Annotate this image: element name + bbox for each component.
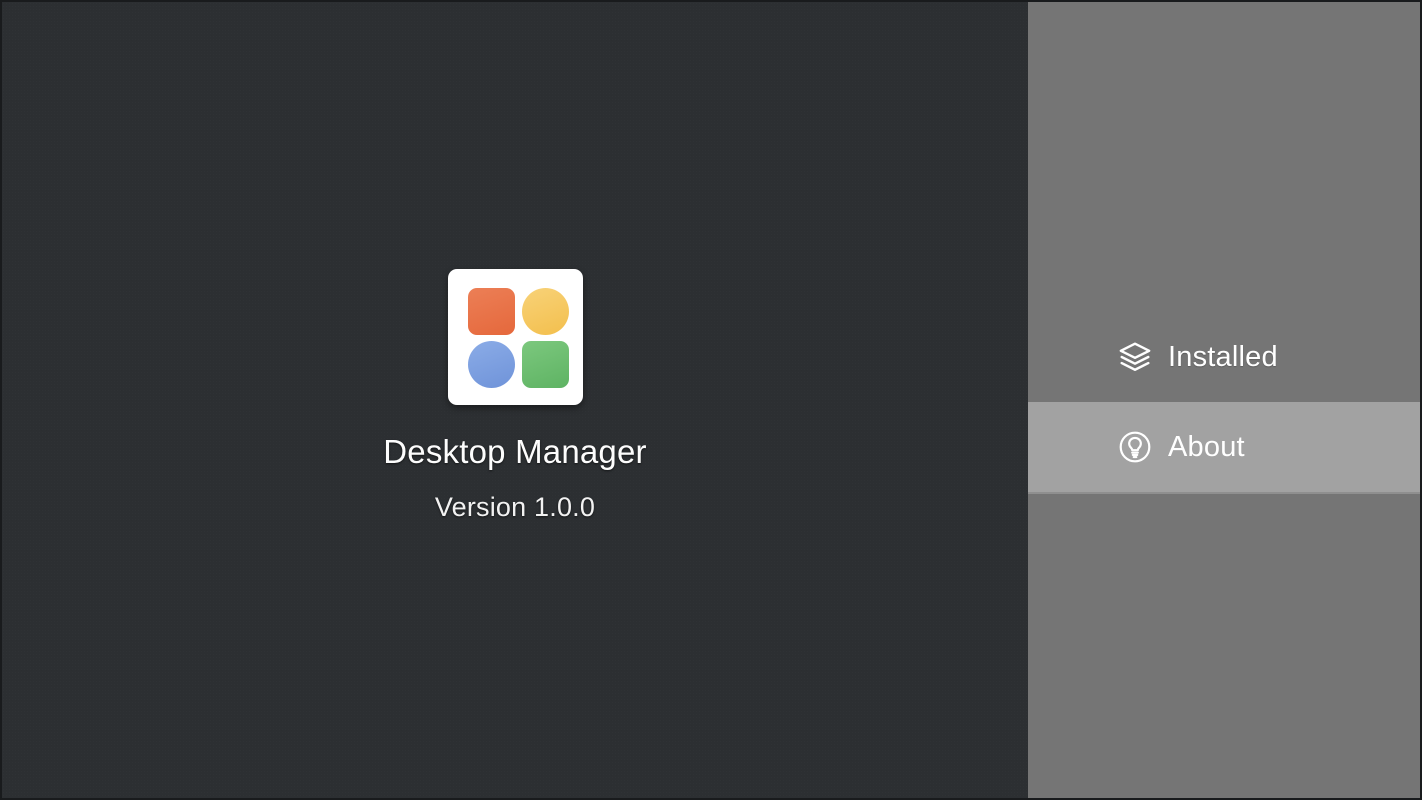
sidebar-item-installed[interactable]: Installed xyxy=(1028,311,1420,403)
sidebar-item-about[interactable]: About xyxy=(1028,402,1420,494)
app-name-label: Desktop Manager xyxy=(383,433,646,471)
layers-icon xyxy=(1118,340,1152,374)
desktop-manager-app-icon xyxy=(448,269,583,405)
app-icon-orange-square xyxy=(468,288,515,335)
app-version-label: Version 1.0.0 xyxy=(435,491,595,523)
sidebar-item-installed-label: Installed xyxy=(1168,340,1278,374)
app-icon-green-square xyxy=(522,341,569,388)
lightbulb-circle-icon xyxy=(1118,430,1152,464)
sidebar-nav: Installed About xyxy=(1028,2,1420,798)
app-icon-blue-circle xyxy=(468,341,515,388)
application-window: Desktop Manager Version 1.0.0 Installed xyxy=(0,0,1422,800)
about-info-block: Desktop Manager Version 1.0.0 xyxy=(2,269,1028,523)
sidebar-item-about-label: About xyxy=(1168,430,1245,464)
app-icon-yellow-circle xyxy=(522,288,569,335)
about-content-pane: Desktop Manager Version 1.0.0 xyxy=(2,2,1028,798)
